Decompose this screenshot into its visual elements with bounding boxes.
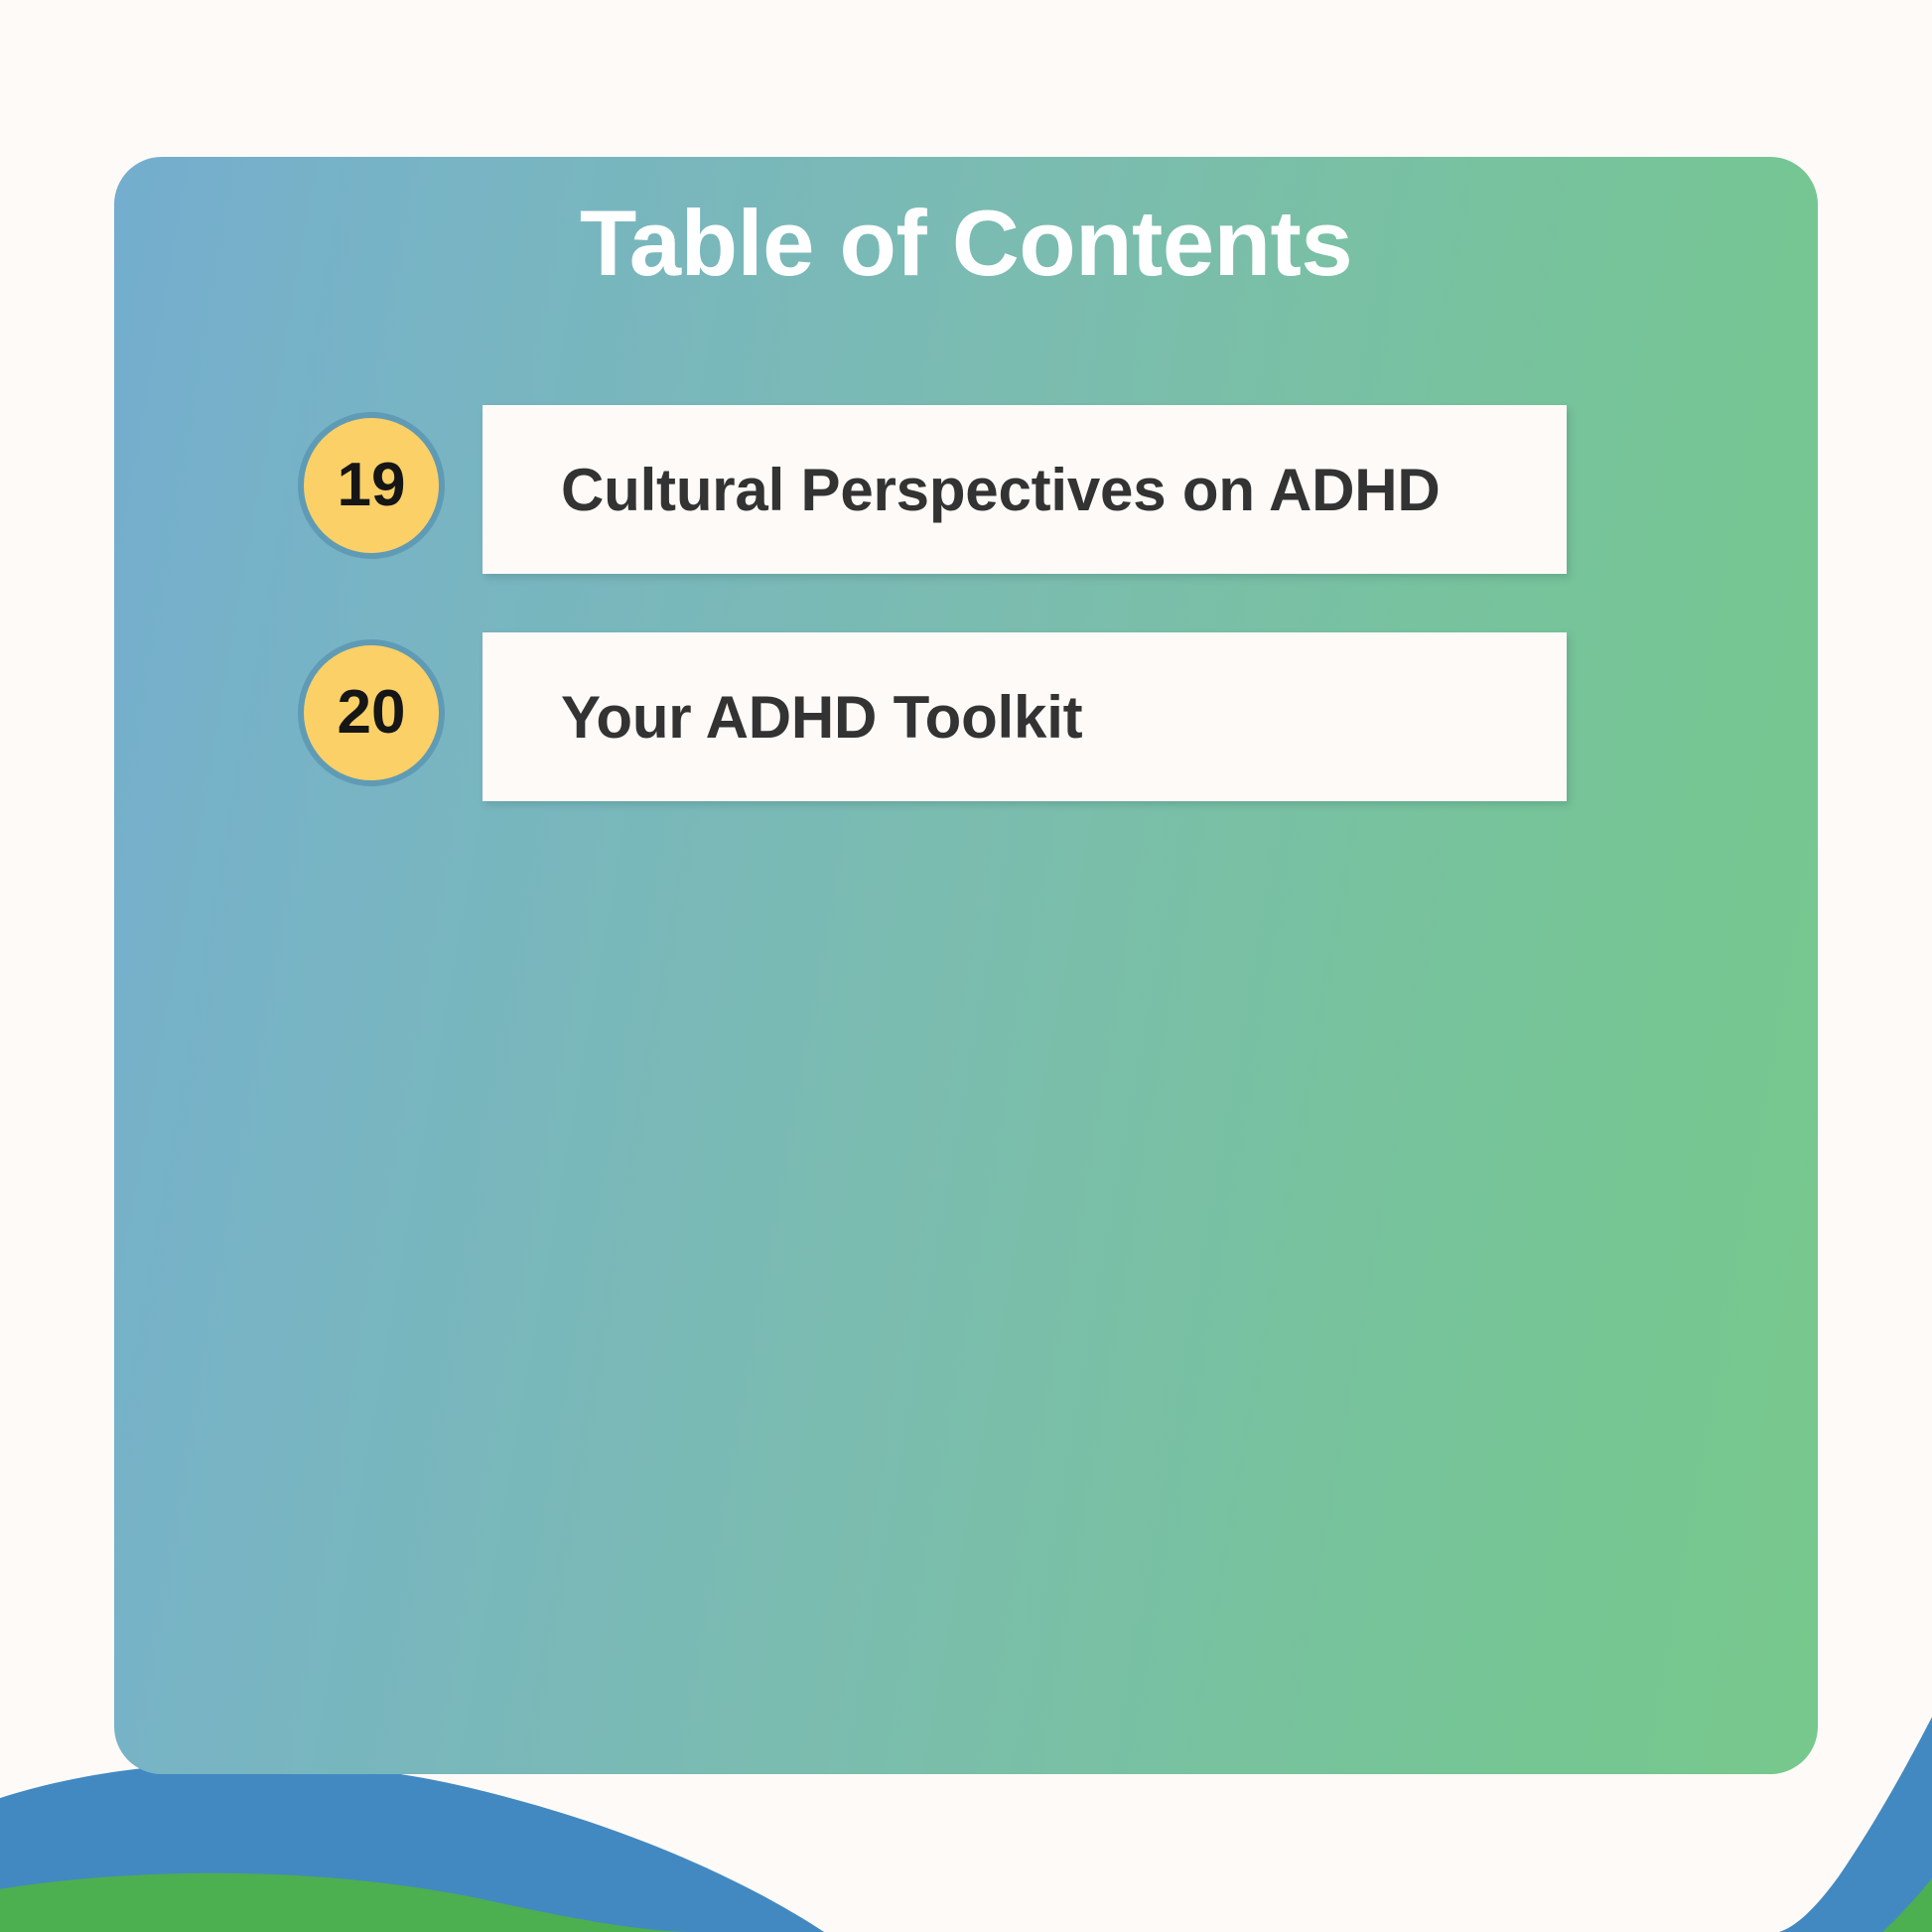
toc-page: Table of Contents 19 Cultural Perspectiv… [0,0,1932,1932]
list-item[interactable]: 19 Cultural Perspectives on ADHD [114,405,1818,574]
toc-entry-label[interactable]: Cultural Perspectives on ADHD [561,405,1441,574]
toc-card: Table of Contents 19 Cultural Perspectiv… [114,157,1818,1774]
list-item[interactable]: 20 Your ADHD Toolkit [114,632,1818,801]
toc-entry-list: 19 Cultural Perspectives on ADHD 20 Your… [114,405,1818,860]
toc-entry-label[interactable]: Your ADHD Toolkit [561,632,1082,801]
page-title: Table of Contents [114,193,1818,294]
green-wave-bottom-left-shape [0,1873,695,1932]
blue-wave-bottom-left-shape [0,1762,824,1932]
toc-entry-number-badge: 19 [298,412,445,559]
toc-entry-number-badge: 20 [298,639,445,786]
green-wave-bottom-right-shape [1882,1853,1932,1932]
